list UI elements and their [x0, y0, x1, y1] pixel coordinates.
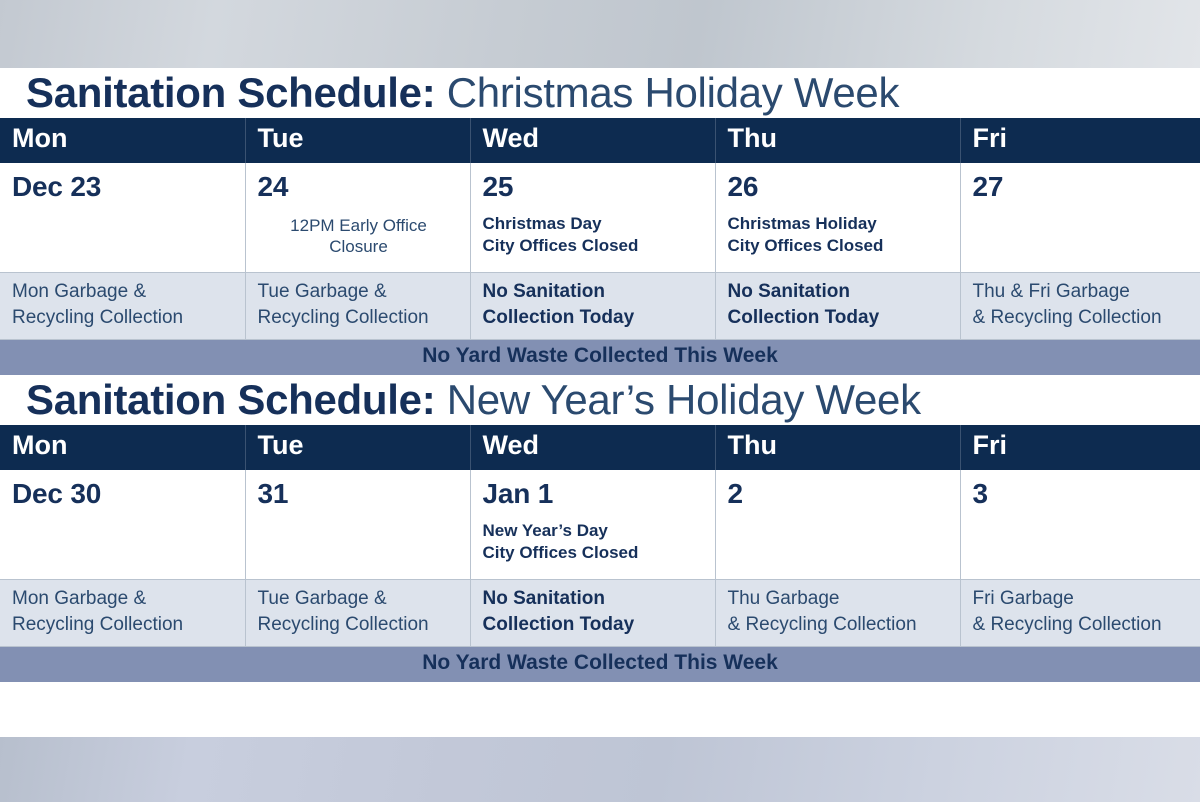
day-header-wed: Wed [470, 118, 715, 162]
collection-line2: & Recycling Collection [973, 612, 1193, 638]
collection-line1: Fri Garbage [973, 586, 1193, 612]
collection-cell-tue: Tue Garbage & Recycling Collection [245, 579, 470, 646]
schedule-table-new-years: Mon Tue Wed Thu Fri Dec 30 [0, 425, 1200, 682]
day-note-line2: City Offices Closed [483, 542, 705, 564]
sanitation-schedule-graphic: Sanitation Schedule: Christmas Holiday W… [0, 0, 1200, 802]
day-note-line2: Closure [258, 236, 460, 257]
day-header-wed: Wed [470, 425, 715, 469]
day-note-line2: City Offices Closed [728, 235, 950, 257]
day-header-fri: Fri [960, 425, 1200, 469]
yard-waste-row: No Yard Waste Collected This Week [0, 339, 1200, 375]
day-cell-mon: Dec 30 [0, 469, 245, 579]
date-row: Dec 30 31 Jan 1 New Year’s Day C [0, 469, 1200, 579]
schedule-title-new-years: Sanitation Schedule: New Year’s Holiday … [0, 375, 1200, 425]
schedule-title-light: Christmas Holiday Week [447, 69, 899, 116]
day-number: 2 [728, 476, 950, 512]
collection-line1: Tue Garbage & [258, 586, 462, 612]
day-header-mon: Mon [0, 425, 245, 469]
schedule-title-strong: Sanitation Schedule: [26, 376, 435, 423]
day-note-line1: 12PM Early Office [258, 215, 460, 236]
collection-line2: Recycling Collection [258, 612, 462, 638]
collection-cell-thu: No Sanitation Collection Today [715, 272, 960, 339]
collection-line1: No Sanitation [728, 279, 952, 305]
day-number: Jan 1 [483, 476, 705, 512]
day-header-tue: Tue [245, 118, 470, 162]
collection-line1: Mon Garbage & [12, 586, 237, 612]
collection-cell-fri: Fri Garbage & Recycling Collection [960, 579, 1200, 646]
day-number: 3 [973, 476, 1191, 512]
collection-line2: Recycling Collection [12, 305, 237, 331]
day-cell-thu: 26 Christmas Holiday City Offices Closed [715, 162, 960, 272]
yard-waste-row: No Yard Waste Collected This Week [0, 646, 1200, 682]
date-row: Dec 23 24 12PM Early Office Closure 25 C… [0, 162, 1200, 272]
day-cell-thu: 2 [715, 469, 960, 579]
day-number: 31 [258, 476, 460, 512]
collection-line1: No Sanitation [483, 586, 707, 612]
day-cell-wed: Jan 1 New Year’s Day City Offices Closed [470, 469, 715, 579]
collection-cell-mon: Mon Garbage & Recycling Collection [0, 272, 245, 339]
schedule-title-light: New Year’s Holiday Week [447, 376, 921, 423]
collection-line2: & Recycling Collection [973, 305, 1193, 331]
schedule-title-christmas: Sanitation Schedule: Christmas Holiday W… [0, 68, 1200, 118]
day-header-mon: Mon [0, 118, 245, 162]
day-number: 25 [483, 169, 705, 205]
collection-cell-thu: Thu Garbage & Recycling Collection [715, 579, 960, 646]
day-cell-mon: Dec 23 [0, 162, 245, 272]
day-note-line2: City Offices Closed [483, 235, 705, 257]
day-cell-wed: 25 Christmas Day City Offices Closed [470, 162, 715, 272]
collection-cell-tue: Tue Garbage & Recycling Collection [245, 272, 470, 339]
collection-line1: Thu Garbage [728, 586, 952, 612]
schedule-content: Sanitation Schedule: Christmas Holiday W… [0, 68, 1200, 737]
collection-line2: Recycling Collection [258, 305, 462, 331]
table-header-row: Mon Tue Wed Thu Fri [0, 118, 1200, 162]
day-cell-tue: 31 [245, 469, 470, 579]
collection-cell-mon: Mon Garbage & Recycling Collection [0, 579, 245, 646]
day-header-thu: Thu [715, 118, 960, 162]
day-cell-fri: 27 [960, 162, 1200, 272]
collection-cell-fri: Thu & Fri Garbage & Recycling Collection [960, 272, 1200, 339]
table-header-row: Mon Tue Wed Thu Fri [0, 425, 1200, 469]
yard-waste-banner: No Yard Waste Collected This Week [0, 646, 1200, 682]
day-header-fri: Fri [960, 118, 1200, 162]
day-number: Dec 30 [12, 476, 235, 512]
collection-row: Mon Garbage & Recycling Collection Tue G… [0, 579, 1200, 646]
collection-line1: Thu & Fri Garbage [973, 279, 1193, 305]
day-note-line1: New Year’s Day [483, 520, 705, 542]
collection-line1: Mon Garbage & [12, 279, 237, 305]
day-number: 24 [258, 169, 460, 205]
day-number: 27 [973, 169, 1191, 205]
day-note-line1: Christmas Day [483, 213, 705, 235]
day-number: 26 [728, 169, 950, 205]
collection-line2: Collection Today [728, 305, 952, 331]
schedule-title-strong: Sanitation Schedule: [26, 69, 435, 116]
collection-line2: Collection Today [483, 305, 707, 331]
collection-line1: Tue Garbage & [258, 279, 462, 305]
collection-cell-wed: No Sanitation Collection Today [470, 579, 715, 646]
day-cell-fri: 3 [960, 469, 1200, 579]
schedule-table-christmas: Mon Tue Wed Thu Fri Dec 23 [0, 118, 1200, 375]
collection-line1: No Sanitation [483, 279, 707, 305]
collection-line2: & Recycling Collection [728, 612, 952, 638]
day-header-tue: Tue [245, 425, 470, 469]
day-note-line1: Christmas Holiday [728, 213, 950, 235]
top-letterbox-band [0, 0, 1200, 68]
collection-row: Mon Garbage & Recycling Collection Tue G… [0, 272, 1200, 339]
collection-cell-wed: No Sanitation Collection Today [470, 272, 715, 339]
collection-line2: Recycling Collection [12, 612, 237, 638]
day-number: Dec 23 [12, 169, 235, 205]
collection-line2: Collection Today [483, 612, 707, 638]
bottom-letterbox-band [0, 737, 1200, 802]
day-cell-tue: 24 12PM Early Office Closure [245, 162, 470, 272]
yard-waste-banner: No Yard Waste Collected This Week [0, 339, 1200, 375]
day-header-thu: Thu [715, 425, 960, 469]
